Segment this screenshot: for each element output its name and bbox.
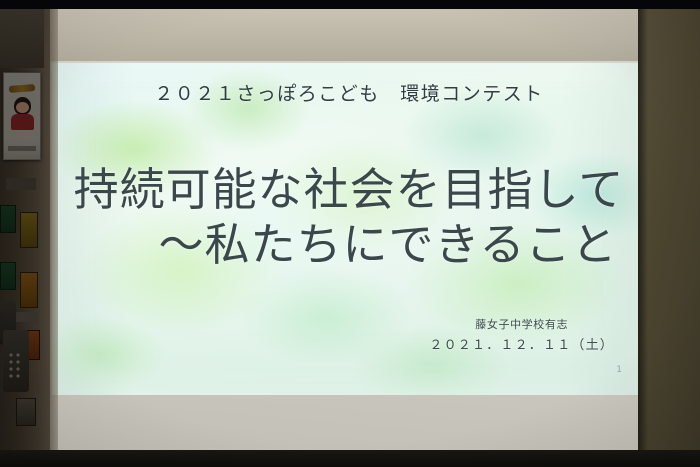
wall-label-plate-top: [6, 178, 36, 190]
slide-credits: 藤女子中学校有志 ２０２１．１２．１１（土）: [429, 316, 614, 353]
wall-yellow-sign-1: [20, 212, 38, 248]
left-wall-upper-block: [0, 0, 44, 68]
wall-poster: [3, 72, 41, 160]
wall-yellow-sign-2: [20, 272, 38, 308]
poster-footer-band: [8, 146, 36, 151]
slide-main-heading: 持続可能な社会を目指して 〜私たちにできること: [52, 163, 646, 273]
poster-title-band: [9, 84, 35, 93]
slide-event-title: ２０２１さっぽろこども 環境コンテスト: [52, 79, 646, 106]
poster-character-body: [11, 114, 34, 130]
wall-small-plate: [16, 398, 36, 426]
ceiling-dark-band: [0, 0, 700, 9]
slide-heading-line-1: 持続可能な社会を目指して: [52, 163, 646, 217]
poster-character-face: [14, 97, 31, 115]
wall-green-sign-2: [0, 262, 16, 290]
projected-slide-photo: ２０２１さっぽろこども 環境コンテスト 持続可能な社会を目指して 〜私たちにでき…: [0, 0, 700, 467]
ceiling-wall-strip: [38, 9, 652, 61]
floor-dark-band: [0, 450, 700, 467]
presentation-slide: ２０２１さっぽろこども 環境コンテスト 持続可能な社会を目指して 〜私たちにでき…: [52, 63, 646, 395]
slide-credit-date: ２０２１．１２．１１（土）: [429, 334, 614, 353]
slide-heading-line-2: 〜私たちにできること: [52, 217, 646, 273]
slide-page-number: 1: [616, 365, 622, 375]
wall-phone-keypad: [8, 352, 23, 382]
right-wall: [638, 0, 700, 467]
wall-green-sign-1: [0, 205, 16, 233]
slide-credit-organization: 藤女子中学校有志: [429, 316, 614, 332]
